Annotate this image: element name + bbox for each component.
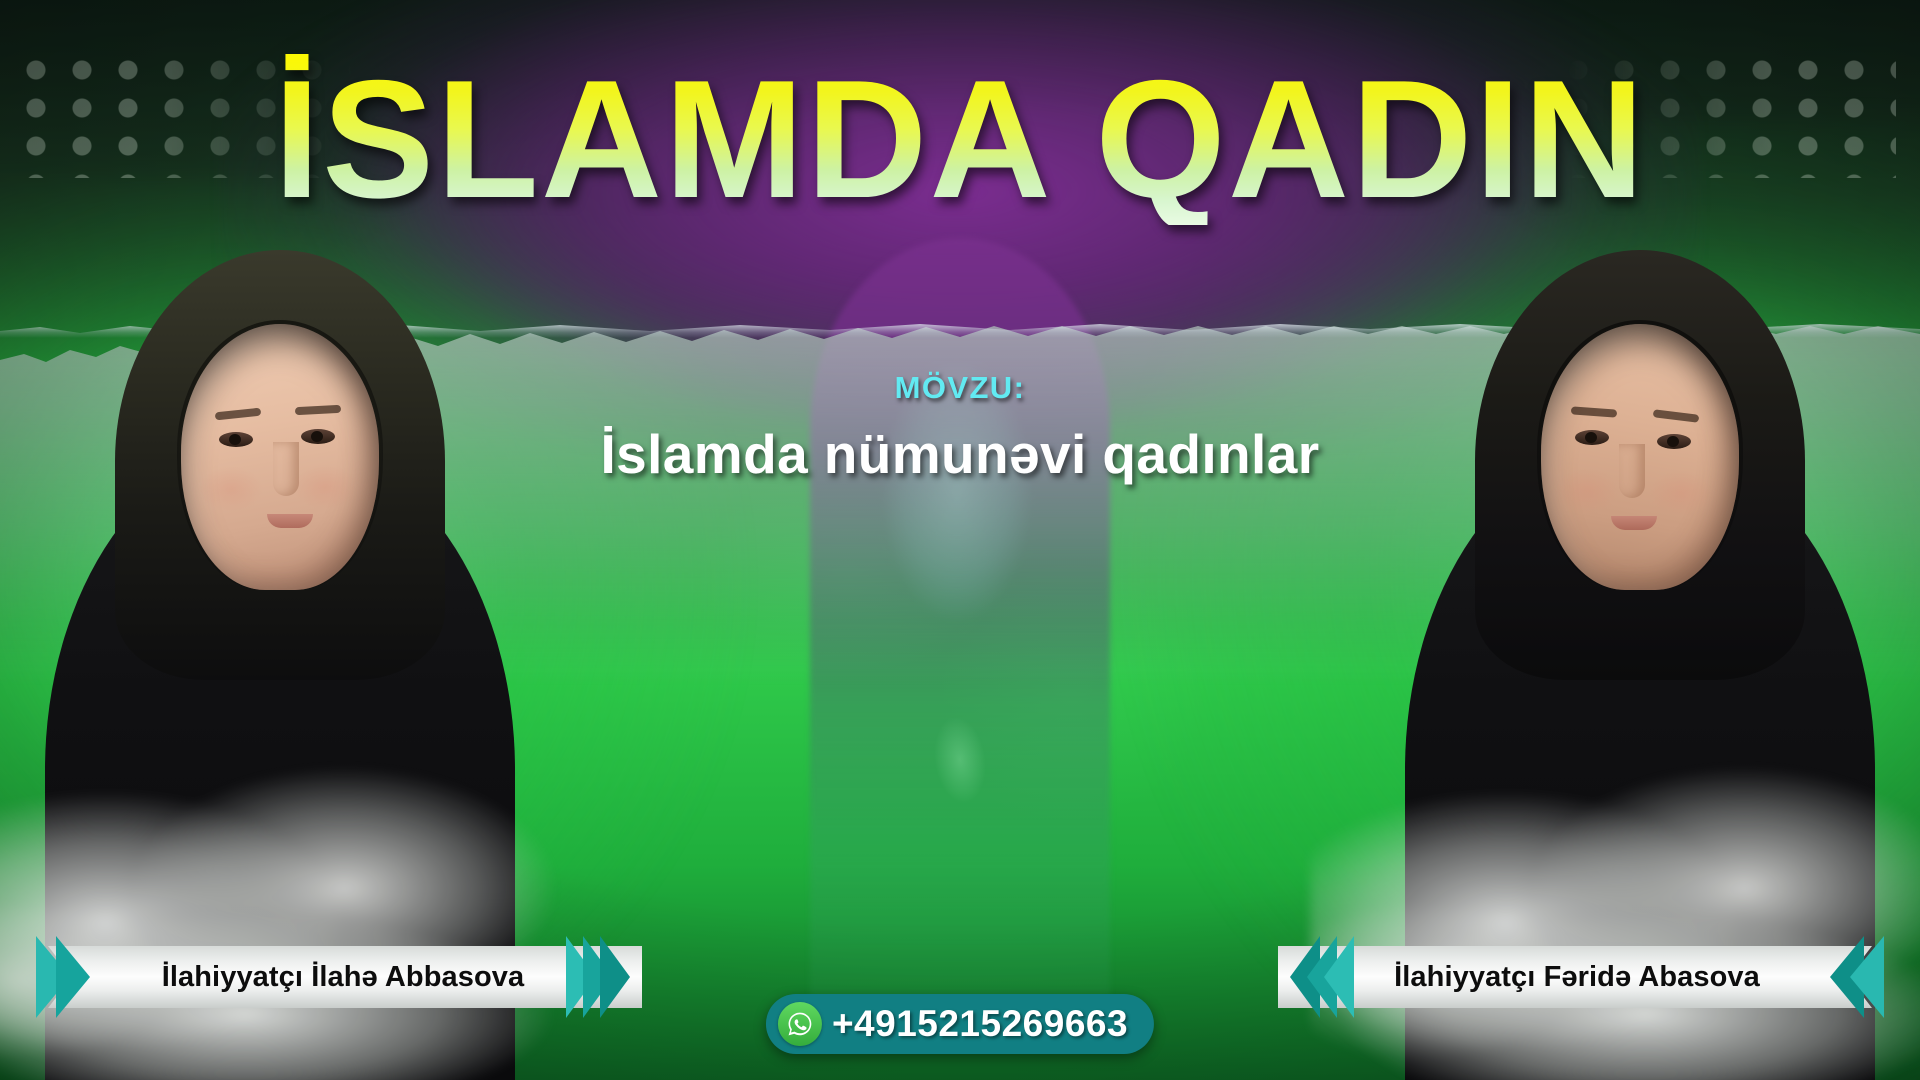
subject-label: MÖVZU: <box>0 370 1920 406</box>
speaker-name-banner-right: İlahiyyatçı Fəridə Abasova <box>1278 946 1872 1008</box>
whatsapp-contact-badge[interactable]: +4915215269663 <box>766 994 1154 1054</box>
page-title: İSLAMDA QADIN <box>273 54 1646 225</box>
subject-area: MÖVZU: İslamda nümunəvi qadınlar <box>0 370 1920 486</box>
chevron-left-icon <box>1844 936 1884 1018</box>
speaker-name-right: İlahiyyatçı Fəridə Abasova <box>1394 961 1760 994</box>
chevron-right-icon <box>36 936 76 1018</box>
speaker-name-banner-left: İlahiyyatçı İlahə Abbasova <box>48 946 642 1008</box>
subject-title: İslamda nümunəvi qadınlar <box>0 422 1920 486</box>
chevron-left-icon <box>1303 936 1354 1018</box>
title-area: İSLAMDA QADIN <box>0 54 1920 225</box>
chevron-right-icon <box>566 936 617 1018</box>
poster-canvas: İSLAMDA QADIN MÖVZU: İslamda nümunəvi qa… <box>0 0 1920 1080</box>
speaker-name-left: İlahiyyatçı İlahə Abbasova <box>162 961 525 994</box>
whatsapp-icon <box>778 1002 822 1046</box>
phone-number: +4915215269663 <box>832 1003 1128 1045</box>
